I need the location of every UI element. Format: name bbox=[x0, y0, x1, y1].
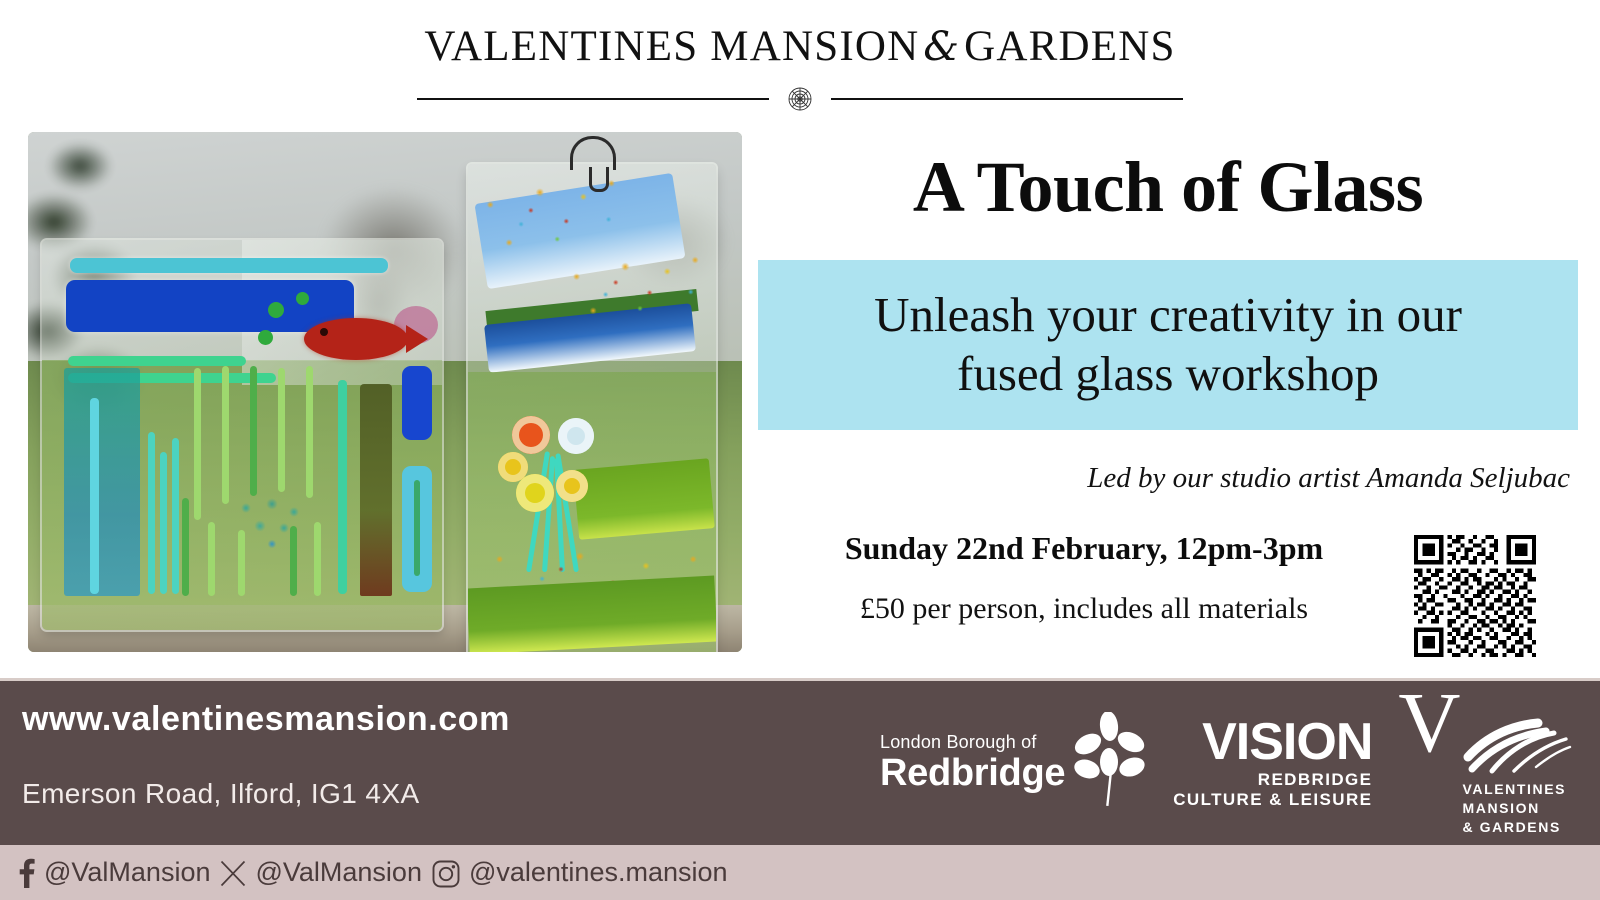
glass-wave-9 bbox=[290, 526, 297, 596]
glass-stringer-cyan-2 bbox=[148, 432, 155, 594]
main-content: A Touch of Glass Unleash your creativity… bbox=[758, 132, 1578, 662]
event-price: £50 per person, includes all materials bbox=[758, 592, 1410, 626]
org-name-part1: VALENTINES MANSION bbox=[424, 23, 919, 70]
vision-logo-sub2: CULTURE & LEISURE bbox=[1173, 791, 1372, 808]
chestnut-leaf-icon bbox=[1073, 712, 1147, 813]
subtitle-banner: Unleash your creativity in our fused gla… bbox=[758, 260, 1578, 430]
vision-logo-word: VISION bbox=[1202, 716, 1372, 768]
glass-bar-green-1 bbox=[68, 356, 246, 366]
glass-panel-left bbox=[42, 240, 442, 630]
glass-block-blue bbox=[402, 366, 432, 440]
glass-fish-eye bbox=[320, 328, 328, 336]
glass-stringer-cyan-3 bbox=[160, 452, 167, 594]
millefiori-flower-white bbox=[558, 418, 594, 454]
subtitle-line-1: Unleash your creativity in our bbox=[874, 288, 1462, 343]
header-divider bbox=[0, 86, 1600, 112]
social-media-bar: @ValMansion @ValMansion @valentines.mans… bbox=[0, 845, 1600, 900]
glass-dot-3 bbox=[258, 330, 273, 345]
millefiori-flower-yellow-2 bbox=[516, 474, 554, 512]
logo-vision-redbridge: VISION REDBRIDGE CULTURE & LEISURE bbox=[1173, 716, 1372, 808]
rosette-ornament-icon bbox=[787, 86, 813, 112]
glass-wave-10 bbox=[314, 522, 321, 596]
instagram-icon bbox=[431, 858, 461, 888]
glass-panel-hanger bbox=[570, 136, 616, 170]
glass-stringer-cyan-1 bbox=[90, 398, 99, 594]
glass-bar-turquoise bbox=[70, 258, 388, 273]
org-name-ampersand: & bbox=[919, 24, 964, 70]
glass-wave-4 bbox=[278, 368, 285, 492]
panel-right-bottom-green bbox=[468, 576, 716, 652]
redbridge-logo-name: Redbridge bbox=[880, 754, 1065, 792]
glass-stringer-teal-tall bbox=[338, 380, 347, 594]
glass-wave-8 bbox=[238, 530, 245, 596]
millefiori-flower-yellow-3 bbox=[556, 470, 588, 502]
website-url[interactable]: www.valentinesmansion.com bbox=[22, 700, 510, 739]
artist-credit: Led by our studio artist Amanda Seljubac bbox=[758, 462, 1570, 495]
social-item-x[interactable]: @ValMansion bbox=[219, 857, 421, 888]
valentines-logo-line3: & GARDENS bbox=[1462, 818, 1572, 837]
vision-logo-sub1: REDBRIDGE bbox=[1258, 771, 1373, 788]
glass-wave-2 bbox=[222, 366, 229, 504]
instagram-handle: @valentines.mansion bbox=[469, 857, 728, 888]
glass-panel-right bbox=[468, 164, 716, 652]
org-name-part2: GARDENS bbox=[964, 23, 1175, 70]
facebook-icon bbox=[18, 858, 36, 888]
glass-block-lightblue bbox=[402, 466, 432, 592]
panel-right-green-slab bbox=[573, 458, 715, 540]
millefiori-flower-orange bbox=[512, 416, 550, 454]
divider-line-left bbox=[417, 98, 769, 100]
x-handle: @ValMansion bbox=[255, 857, 421, 888]
divider-line-right bbox=[831, 98, 1183, 100]
glass-wave-6 bbox=[182, 498, 189, 596]
brushstroke-m-icon bbox=[1462, 717, 1572, 780]
glass-wave-7 bbox=[208, 522, 215, 596]
glass-olive-bar bbox=[360, 384, 392, 596]
fused-glass-artwork-photo bbox=[28, 132, 742, 652]
glass-wave-1 bbox=[194, 368, 201, 520]
valentines-logo-monogram: V bbox=[1398, 687, 1460, 758]
page-footer: www.valentinesmansion.com Emerson Road, … bbox=[0, 678, 1600, 845]
social-item-instagram[interactable]: @valentines.mansion bbox=[431, 857, 728, 888]
venue-address: Emerson Road, Ilford, IG1 4XA bbox=[22, 778, 420, 810]
valentines-logo-line1: VALENTINES bbox=[1462, 780, 1572, 799]
glass-dot-2 bbox=[296, 292, 309, 305]
partner-logos: London Borough of Redbridge bbox=[880, 692, 1592, 832]
event-date: Sunday 22nd February, 12pm-3pm bbox=[758, 530, 1410, 567]
page-title: A Touch of Glass bbox=[758, 146, 1578, 229]
valentines-logo-line2: MANSION bbox=[1462, 799, 1572, 818]
organisation-name: VALENTINES MANSION&GARDENS bbox=[0, 22, 1600, 71]
redbridge-logo-small-text: London Borough of bbox=[880, 733, 1037, 751]
page-header: VALENTINES MANSION&GARDENS bbox=[0, 0, 1600, 128]
logo-valentines-mansion: V VALENTINES MANSION & GARDE bbox=[1398, 687, 1572, 836]
glass-bar-blue bbox=[66, 280, 354, 332]
booking-qr-code[interactable] bbox=[1410, 535, 1540, 657]
facebook-handle: @ValMansion bbox=[44, 857, 210, 888]
glass-teal-block bbox=[64, 368, 140, 596]
glass-wave-3 bbox=[250, 366, 257, 496]
glass-stringer-cyan-4 bbox=[172, 438, 179, 594]
subtitle-line-2: fused glass workshop bbox=[957, 347, 1379, 402]
glass-red-fish bbox=[304, 318, 408, 360]
x-twitter-icon bbox=[219, 858, 247, 888]
social-item-facebook[interactable]: @ValMansion bbox=[18, 857, 210, 888]
logo-london-borough-redbridge: London Borough of Redbridge bbox=[880, 712, 1147, 813]
glass-dot-1 bbox=[268, 302, 284, 318]
glass-wave-5 bbox=[306, 366, 313, 498]
